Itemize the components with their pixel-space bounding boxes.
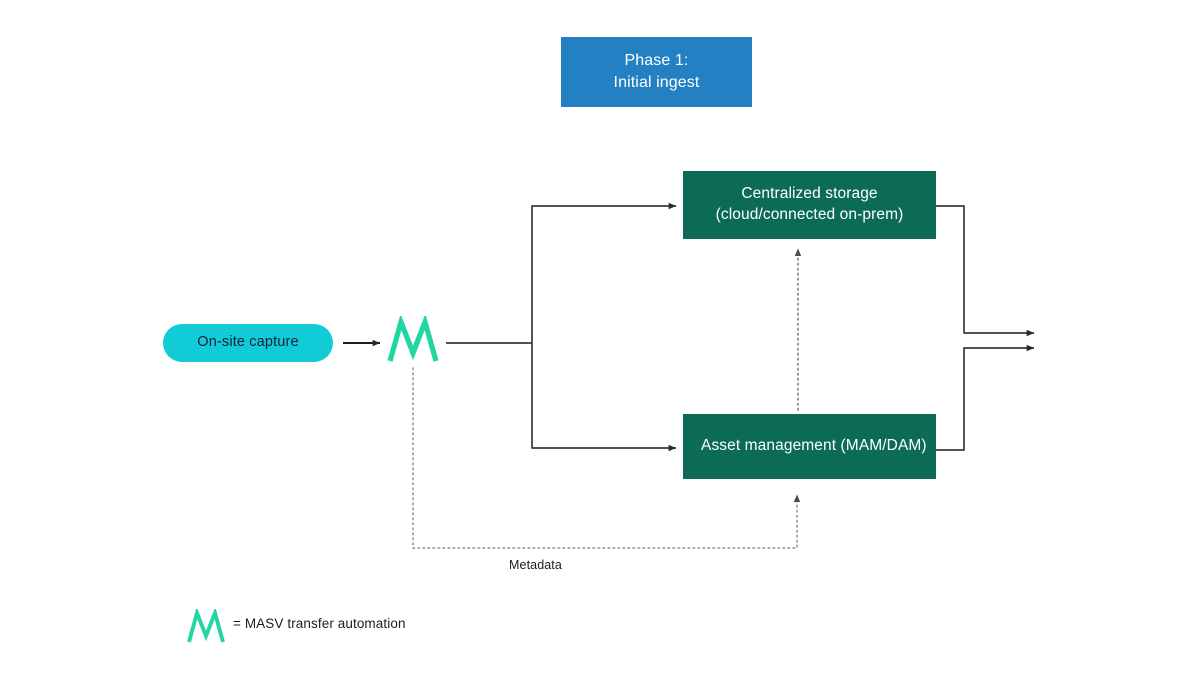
node-centralized-storage[interactable]: Centralized storage (cloud/connected on-… xyxy=(683,171,936,239)
node-centralized-storage-line2: (cloud/connected on-prem) xyxy=(716,205,904,226)
node-centralized-storage-text: Centralized storage (cloud/connected on-… xyxy=(716,184,904,226)
metadata-edge-label: Metadata xyxy=(509,558,562,572)
phase-banner: Phase 1: Initial ingest xyxy=(561,37,752,107)
masv-transfer-icon xyxy=(386,316,440,364)
legend-label: = MASV transfer automation xyxy=(233,616,406,631)
diagram-canvas: Phase 1: Initial ingest On-site capture … xyxy=(0,0,1200,675)
node-on-site-capture[interactable]: On-site capture xyxy=(163,324,333,362)
node-centralized-storage-line1: Centralized storage xyxy=(716,184,904,205)
phase-banner-text: Phase 1: Initial ingest xyxy=(614,50,700,93)
node-on-site-capture-label: On-site capture xyxy=(197,333,298,353)
edge-asset-to-output xyxy=(936,348,1034,450)
node-asset-management-label: Asset management (MAM/DAM) xyxy=(701,436,927,457)
phase-banner-line2: Initial ingest xyxy=(614,72,700,94)
masv-legend-icon xyxy=(186,609,226,644)
edge-split-to-asset xyxy=(532,343,676,448)
phase-banner-line1: Phase 1: xyxy=(614,50,700,72)
node-asset-management[interactable]: Asset management (MAM/DAM) xyxy=(683,414,936,479)
edge-storage-to-output xyxy=(936,206,1034,333)
edge-split-to-storage xyxy=(532,206,676,343)
